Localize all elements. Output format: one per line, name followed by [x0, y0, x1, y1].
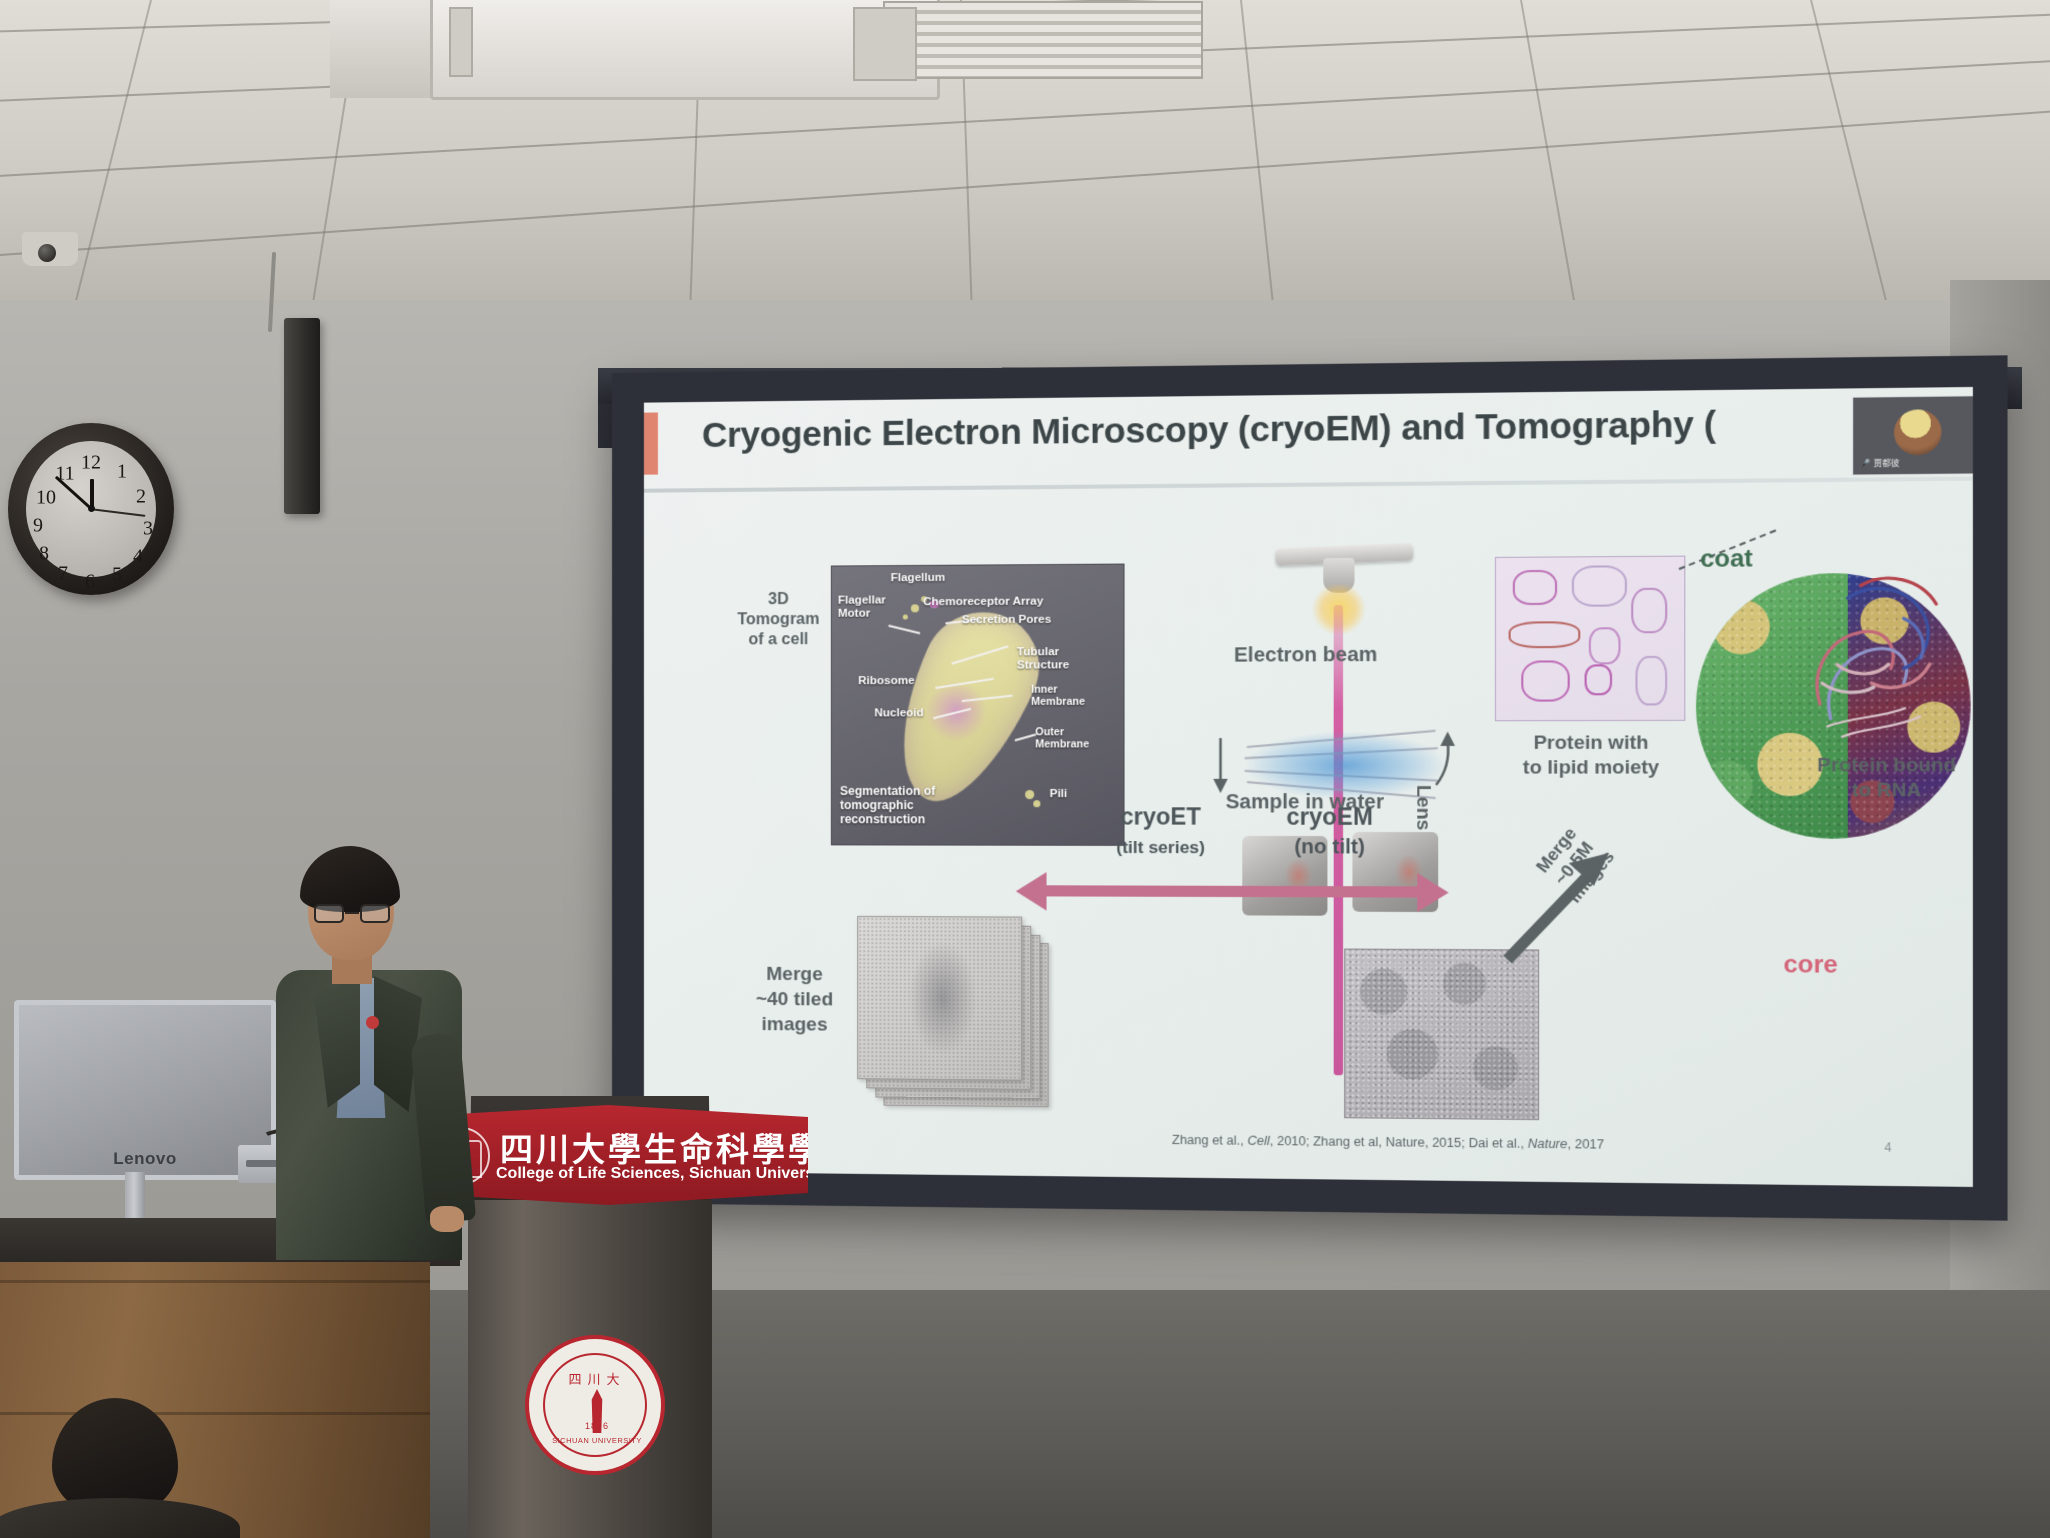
clock-numeral: 11 [55, 463, 74, 486]
clock-numeral: 9 [33, 515, 43, 538]
clock-numeral: 6 [85, 571, 95, 594]
lectern-sign-english: College of Life Sciences, Sichuan Univer… [496, 1165, 800, 1183]
cryoet-sublabel: (tilt series) [1083, 834, 1238, 862]
branch-arrow-line [1042, 885, 1417, 897]
branch-arrow-head-left [1016, 872, 1047, 911]
participant-avatar [1894, 409, 1941, 455]
wall-clock: 12 1 2 3 4 5 6 7 8 9 10 11 [8, 423, 174, 595]
video-participant-tile[interactable]: 🎤贾都彼 [1852, 395, 1973, 475]
clock-numeral: 1 [117, 461, 127, 484]
slide-number: 4 [1884, 1140, 1891, 1155]
tomogram-label-flagellum: Flagellum [891, 572, 946, 585]
clock-numeral: 8 [39, 543, 49, 566]
emblem-english-text: SICHUAN UNIVERSITY [545, 1436, 649, 1445]
tomogram-side-label: 3D Tomogram of a cell [730, 590, 827, 651]
electron-beam-label: Electron beam [1234, 644, 1377, 668]
tomogram-panel: Flagellum Flagellar Motor Chemoreceptor … [831, 564, 1125, 846]
citation-part-3: , 2017 [1567, 1137, 1604, 1152]
protein-rna-caption: Protein bound to RNA [1781, 754, 1973, 804]
clock-numeral: 2 [136, 486, 146, 509]
presentation-slide: Cryogenic Electron Microscopy (cryoEM) a… [644, 387, 1973, 1187]
em-micrograph [1344, 949, 1539, 1121]
presenter [270, 838, 470, 1258]
slide-title: Cryogenic Electron Microscopy (cryoEM) a… [702, 402, 1930, 456]
tilt-up-arrow-icon [1430, 732, 1457, 789]
emblem-inner-ring: 四川大 1896 SICHUAN UNIVERSITY [543, 1353, 647, 1457]
presenter-hand [430, 1206, 464, 1232]
lectern-sign-chinese: 四川大學生命科學學院 [500, 1123, 796, 1171]
emblem-year: 1896 [545, 1421, 649, 1431]
tomogram-label-ribosome: Ribosome [858, 675, 914, 688]
clock-numeral: 10 [36, 487, 56, 510]
emblem-chinese-text: 四川大 [545, 1369, 649, 1388]
camera-lens-icon [38, 244, 56, 262]
citation-journal-1: Cell [1247, 1134, 1269, 1149]
lipid-protein-caption: Protein with to lipid moiety [1480, 731, 1702, 781]
tilt-series-stack [857, 916, 1050, 1109]
tomogram-label-secretion-pores: Secretion Pores [962, 614, 1051, 627]
tomogram-label-outer-membrane: Outer Membrane [1035, 727, 1089, 750]
ac-vent-grille [883, 1, 1203, 79]
clock-face: 12 1 2 3 4 5 6 7 8 9 10 11 [26, 441, 156, 577]
coat-label: coat [1700, 545, 1753, 574]
clock-numeral: 3 [143, 518, 153, 541]
slide-citation: Zhang et al., Cell, 2010; Zhang et al, N… [1172, 1133, 1910, 1155]
presenter-hair [300, 846, 400, 912]
clock-numeral: 4 [133, 546, 143, 569]
clock-center-pin [88, 505, 95, 512]
presenter-badge-pin [366, 1016, 379, 1029]
wall-speaker [284, 318, 320, 514]
microphone-icon: 🎤 [1860, 459, 1871, 468]
protein-rna-ribbon-render [1801, 560, 1962, 746]
clock-numeral: 7 [58, 563, 68, 586]
projector-screen: Cryogenic Electron Microscopy (cryoEM) a… [612, 355, 2008, 1220]
tomogram-label-flagellar-motor: Flagellar Motor [838, 594, 886, 619]
tomogram-label-tubular-structure: Tubular Structure [1017, 646, 1069, 672]
lipid-protein-inset [1495, 556, 1685, 722]
tomogram-label-nucleoid: Nucleoid [874, 707, 923, 720]
monitor-brand-label: Lenovo [19, 1149, 271, 1169]
citation-part-2: , 2010; Zhang et al, Nature, 2015; Dai e… [1270, 1134, 1528, 1151]
ceiling [0, 0, 2050, 330]
cryoem-label: cryoEM [1246, 803, 1413, 831]
tomogram-label-pili: Pili [1050, 788, 1068, 801]
clock-numeral: 5 [112, 564, 122, 587]
lectern-emblem: 四川大 1896 SICHUAN UNIVERSITY [525, 1335, 665, 1475]
clock-numeral: 12 [81, 452, 101, 475]
citation-part-1: Zhang et al., [1172, 1133, 1247, 1148]
cryoet-label: cryoET [1083, 803, 1238, 831]
title-divider [644, 477, 1973, 493]
cryoem-sublabel: (no tilt) [1246, 834, 1413, 862]
citation-journal-2: Nature [1528, 1136, 1568, 1151]
tilt-down-arrow-icon [1209, 738, 1232, 795]
lenovo-monitor: Lenovo [14, 1000, 276, 1180]
title-accent-bar [644, 412, 658, 474]
merge-tilt-label: Merge ~40 tiled images [734, 962, 855, 1038]
clock-second-hand [92, 508, 146, 516]
tomogram-label-chemoreceptor-array: Chemoreceptor Array [923, 595, 1043, 608]
participant-name-label: 🎤贾都彼 [1860, 457, 1900, 469]
tomogram-label-inner-membrane: Inner Membrane [1031, 685, 1085, 708]
branch-arrow-head-right [1417, 873, 1448, 912]
core-label: core [1783, 951, 1837, 980]
presenter-glasses [314, 904, 390, 924]
tomogram-caption: Segmentation of tomographic reconstructi… [840, 784, 935, 826]
lens-label: Lens [1411, 785, 1434, 830]
ac-unit [430, 0, 940, 100]
lecture-hall-scene: 12 1 2 3 4 5 6 7 8 9 10 11 VISION Cryog [0, 0, 2050, 1538]
